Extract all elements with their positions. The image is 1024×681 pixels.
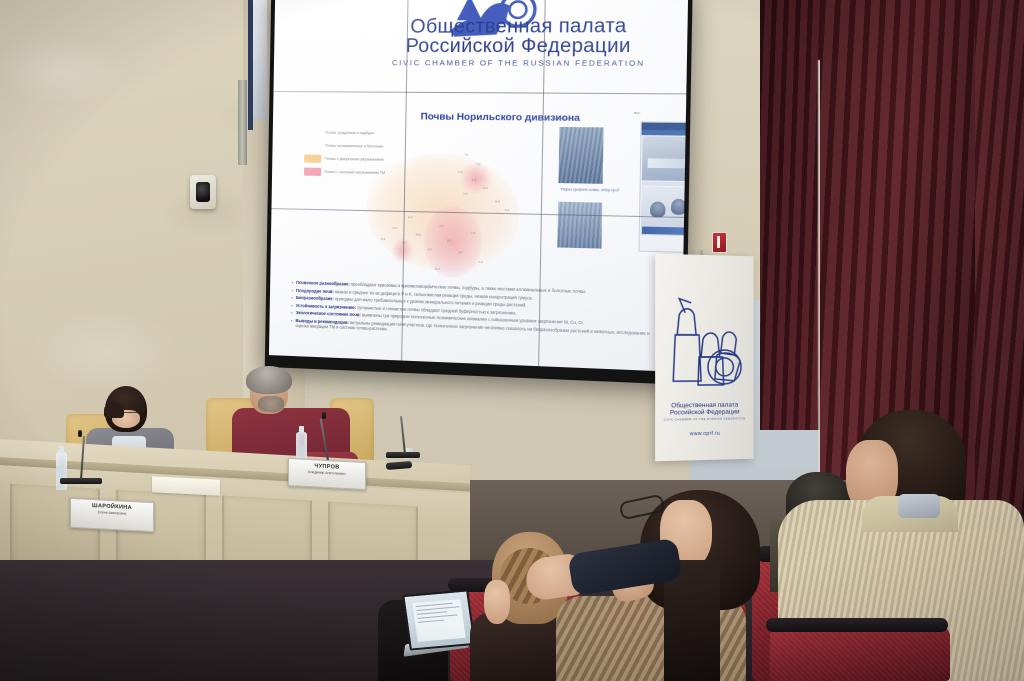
legend-swatch bbox=[304, 128, 321, 136]
vc-label: ВКС bbox=[634, 111, 641, 115]
map-point: К-3 bbox=[408, 216, 412, 219]
fire-alarm-icon bbox=[712, 232, 727, 253]
org-line-2: Российской Федерации bbox=[381, 37, 657, 57]
soil-profile-photo bbox=[558, 127, 603, 184]
moderator-fringe bbox=[104, 402, 124, 418]
rollup-banner: Общественная палата Российской Федерации… bbox=[655, 254, 753, 462]
presenter-hair bbox=[246, 366, 292, 394]
map-point: Н-5 bbox=[495, 201, 500, 204]
banner-url: www.oprf.ru bbox=[661, 430, 748, 438]
map-point: Л-3 bbox=[439, 225, 443, 228]
banner-title: Общественная палата Российской Федерации… bbox=[661, 403, 748, 422]
legend-swatch-severe bbox=[303, 168, 320, 176]
banner-line-3: CIVIC CHAMBER OF THE RUSSIAN FEDERATION bbox=[661, 417, 748, 421]
organization-title: Общественная палата Российской Федерации… bbox=[381, 16, 657, 67]
map-point: А-2 bbox=[427, 248, 431, 251]
bullet-dot-icon: • bbox=[291, 295, 293, 301]
laptop-screen[interactable] bbox=[402, 589, 476, 650]
banner-emblem-icon bbox=[665, 294, 744, 400]
soil-sampling-photo bbox=[557, 202, 602, 249]
legend-label: Почвы тундровые и подбуры bbox=[325, 131, 374, 136]
bullet-dot-icon: • bbox=[292, 280, 294, 286]
microphone-head[interactable] bbox=[78, 430, 82, 437]
nameplate-chuprov: ЧУПРОВ Владимир Анатольевич bbox=[288, 458, 366, 490]
map-point: Т-1 bbox=[464, 154, 468, 157]
legend-swatch bbox=[304, 141, 321, 149]
bullet-dot-icon: • bbox=[291, 310, 293, 316]
photo-caption: Разрез профиля почвы, отбор проб bbox=[543, 187, 637, 193]
map-point: П-4 bbox=[381, 238, 385, 241]
seat-headrest bbox=[766, 618, 948, 632]
video-conference-window[interactable] bbox=[638, 121, 688, 253]
map-point: Т-3 bbox=[458, 171, 462, 174]
org-line-3: CIVIC CHAMBER OF THE RUSSIAN FEDERATION bbox=[381, 59, 656, 68]
audience-seat-front bbox=[770, 626, 950, 681]
microphone-arm bbox=[400, 416, 406, 454]
vc-control-bar[interactable] bbox=[642, 227, 689, 236]
video-wall-screen: Общественная палата Российской Федерации… bbox=[269, 0, 688, 372]
map-point: Д-7 bbox=[459, 251, 463, 254]
map-point: Н-1 bbox=[483, 187, 488, 190]
bullet-heading: Плодородие почв: bbox=[296, 287, 334, 293]
nameplate-sharoykina: ШАРОЙКИНА Елена Акинфовна bbox=[70, 498, 154, 532]
map-point: П-2 bbox=[393, 227, 397, 230]
vc-participant-grid bbox=[640, 187, 688, 237]
bullet-heading: Экологическое состояние почв: bbox=[296, 310, 361, 317]
microphone-head[interactable] bbox=[322, 412, 326, 419]
curtain-far-right bbox=[975, 0, 1024, 560]
bullet-dot-icon: • bbox=[291, 317, 293, 328]
audience-person-braid-neck bbox=[484, 580, 510, 624]
air-vent bbox=[238, 80, 247, 165]
vc-participant bbox=[670, 199, 686, 215]
photo-top-label: отбор проб bbox=[553, 117, 571, 121]
legend-swatch-moderate bbox=[304, 155, 321, 163]
presenter-beard bbox=[258, 396, 284, 412]
window-light-strip bbox=[253, 0, 267, 120]
map-point: Т-2 bbox=[476, 163, 480, 166]
bullet-heading: Устойчивость к загрязнению: bbox=[296, 302, 356, 309]
conference-room-photo: Общественная палата Российской Федерации… bbox=[0, 0, 1024, 681]
water-bottle[interactable] bbox=[56, 452, 67, 490]
contamination-map: Т-1 Т-2 Т-3 Т-4 Н-1 Н-2 Н-5 К-1 К-3 П-2 … bbox=[349, 141, 548, 289]
security-camera-icon bbox=[190, 175, 216, 209]
map-point: Т-4 bbox=[472, 180, 476, 183]
map-point: М-6 bbox=[416, 233, 421, 236]
map-point: Н-2 bbox=[464, 193, 469, 196]
map-point: Ж-2 bbox=[435, 268, 440, 271]
bullet-heading: Биоразнообразие: bbox=[296, 295, 334, 301]
vc-toolbar[interactable] bbox=[641, 130, 688, 136]
vc-main-feed bbox=[641, 136, 688, 181]
video-wall-bezel-horizontal bbox=[273, 91, 686, 95]
org-line-1: Общественная палата bbox=[382, 16, 658, 37]
video-wall[interactable]: Общественная палата Российской Федерации… bbox=[265, 0, 693, 385]
bullet-dot-icon: • bbox=[291, 302, 293, 308]
map-point: С-4 bbox=[471, 232, 476, 235]
bullet-dot-icon: • bbox=[292, 287, 294, 293]
legend-item: Почвы тундровые и подбуры bbox=[304, 128, 408, 137]
laptop-document bbox=[412, 599, 465, 642]
slide-bullet-list: •Почвенное разнообразие: преобладают кри… bbox=[291, 280, 663, 344]
map-point: Д-1 bbox=[447, 240, 451, 243]
map-point: С-9 bbox=[478, 261, 483, 264]
bullet-heading: Почвенное разнообразие: bbox=[296, 280, 350, 287]
shirt-collar bbox=[898, 494, 940, 518]
